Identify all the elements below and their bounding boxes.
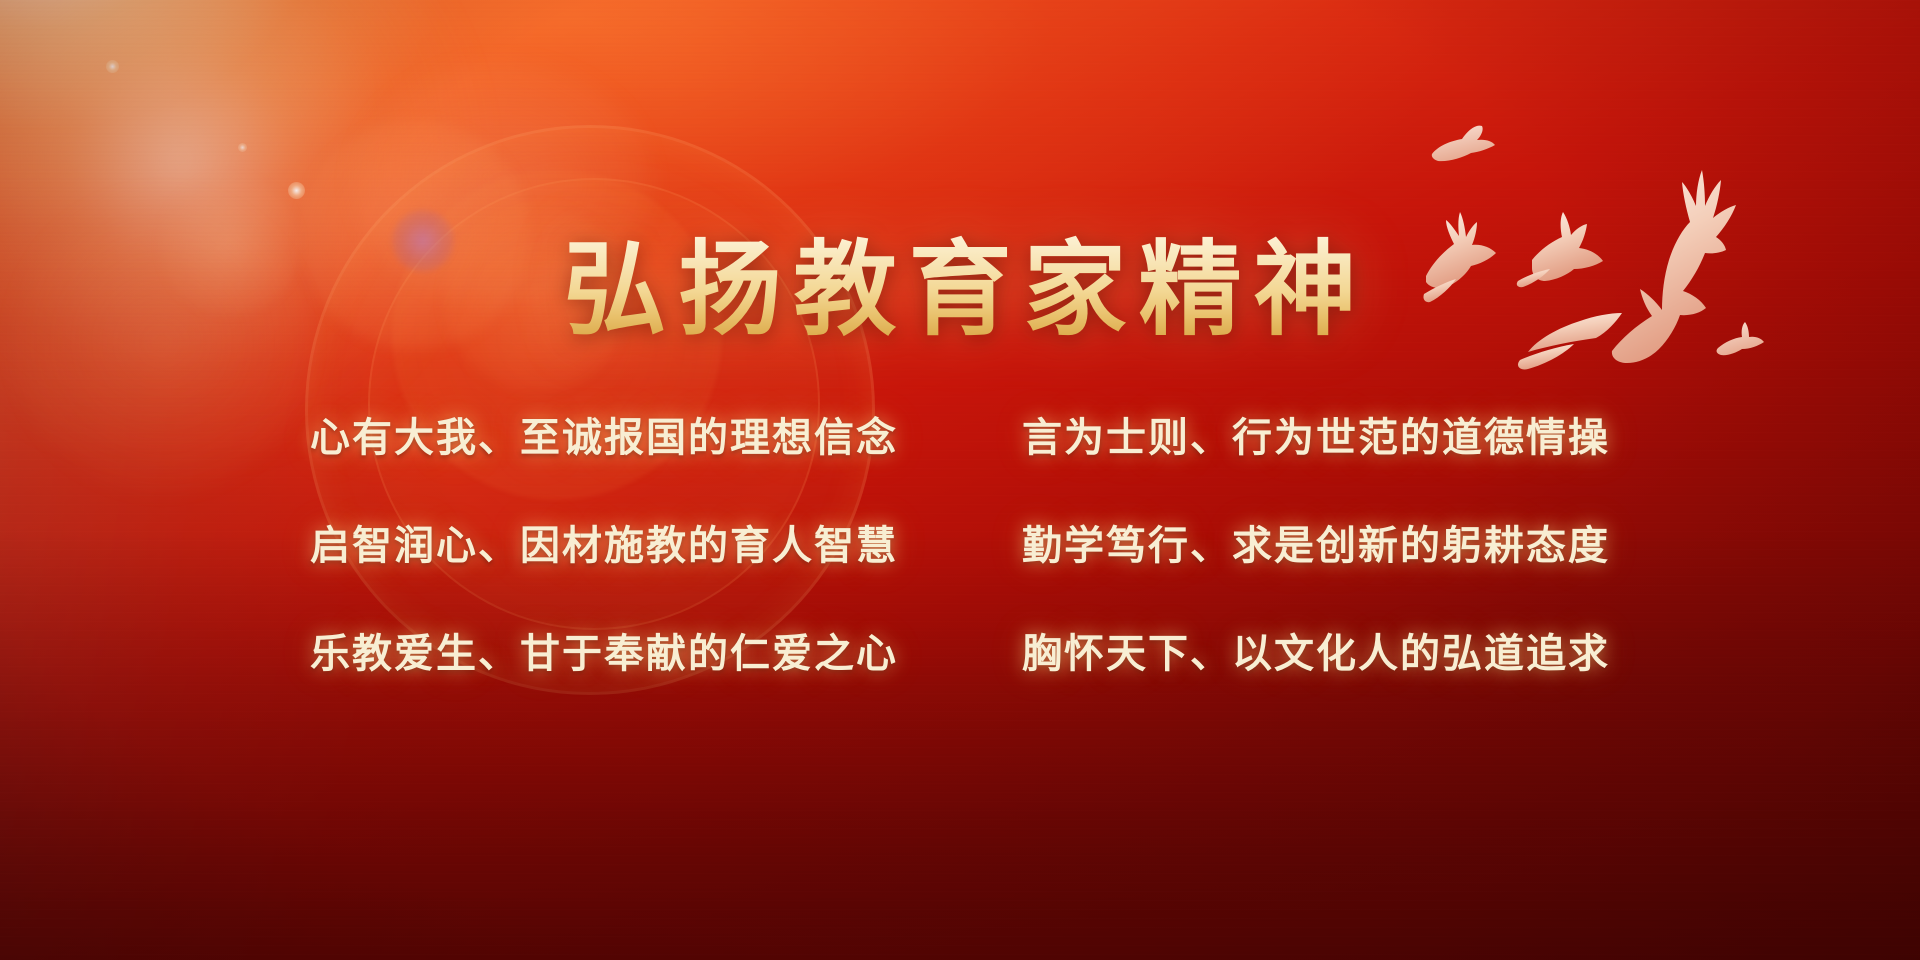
slogan-list: 心有大我、至诚报国的理想信念 言为士则、行为世范的道德情操 启智润心、因材施教的… (0, 405, 1920, 679)
banner-root: 弘扬教育家精神 心有大我、至诚报国的理想信念 言为士则、行为世范的道德情操 启智… (0, 0, 1920, 960)
slogan-item-3-left: 乐教爱生、甘于奉献的仁爱之心 (294, 621, 914, 679)
banner-content: 弘扬教育家精神 心有大我、至诚报国的理想信念 言为士则、行为世范的道德情操 启智… (0, 0, 1920, 960)
slogan-row: 心有大我、至诚报国的理想信念 言为士则、行为世范的道德情操 (150, 405, 1770, 463)
slogan-item-3-right: 胸怀天下、以文化人的弘道追求 (1006, 621, 1626, 679)
slogan-item-1-left: 心有大我、至诚报国的理想信念 (294, 405, 914, 463)
slogan-item-2-left: 启智润心、因材施教的育人智慧 (294, 513, 914, 571)
page-title: 弘扬教育家精神 (552, 232, 1369, 347)
slogan-item-2-right: 勤学笃行、求是创新的躬耕态度 (1006, 513, 1626, 571)
slogan-row: 启智润心、因材施教的育人智慧 勤学笃行、求是创新的躬耕态度 (150, 513, 1770, 571)
slogan-row: 乐教爱生、甘于奉献的仁爱之心 胸怀天下、以文化人的弘道追求 (150, 621, 1770, 679)
slogan-item-1-right: 言为士则、行为世范的道德情操 (1006, 405, 1626, 463)
